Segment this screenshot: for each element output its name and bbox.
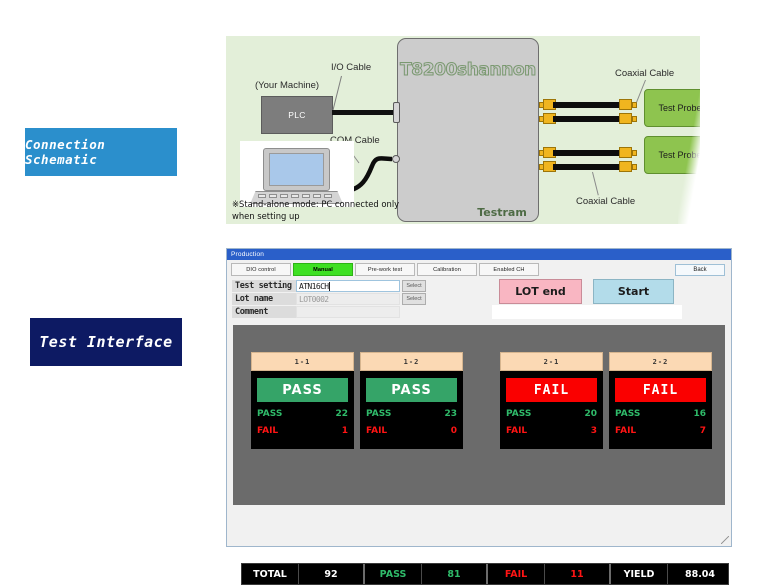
coax-leader-bottom: [592, 172, 599, 196]
coax-cable-label-bottom: Coaxial Cable: [576, 196, 635, 207]
lot-end-button-label: LOT end: [515, 285, 565, 298]
pass-value: 81: [422, 564, 486, 584]
channel-2-2-pass-label: PASS: [615, 409, 640, 419]
test-setting-select-button[interactable]: Select: [402, 280, 426, 292]
lot-name-input[interactable]: LOT0002: [296, 293, 400, 305]
channel-2-1-fail-label: FAIL: [506, 426, 527, 436]
section-label-connection-schematic: Connection Schematic: [25, 128, 177, 176]
channel-1-1-header: 1-1: [251, 352, 354, 371]
channel-2-1-verdict: FAIL: [506, 378, 597, 402]
channel-2-1-fail-count: 3: [591, 426, 597, 436]
channel-card-1-2: 1-2 PASS PASS 23 FAIL 0: [360, 352, 463, 449]
io-cable-leader-line: [332, 76, 342, 113]
fail-group: FAIL 11: [488, 564, 611, 584]
form-row-comment: Comment: [232, 306, 437, 318]
channel-1-2-body: PASS PASS 23 FAIL 0: [360, 371, 463, 449]
form-row-test-setting: Test setting ATN16CH Select: [232, 280, 437, 292]
channel-2-1-body: FAIL PASS 20 FAIL 3: [500, 371, 603, 449]
pass-group: PASS 81: [365, 564, 488, 584]
lot-name-value: LOT0002: [299, 295, 329, 304]
channel-1-1-fail-count: 1: [342, 426, 348, 436]
lot-name-label: Lot name: [232, 293, 296, 305]
io-cable-label: I/O Cable: [331, 62, 371, 73]
lot-end-button[interactable]: LOT end: [499, 279, 582, 304]
test-setting-input[interactable]: ATN16CH: [296, 280, 400, 292]
status-strip: [492, 305, 682, 319]
test-setting-label: Test setting: [232, 280, 296, 292]
channel-1-1-body: PASS PASS 22 FAIL 1: [251, 371, 354, 449]
channel-1-2-fail-count: 0: [451, 426, 457, 436]
io-cable-wire: [332, 110, 398, 115]
channel-2-2-fail-label: FAIL: [615, 426, 636, 436]
channel-1-1-pass-stat: PASS 22: [257, 409, 348, 419]
channel-1-2-fail-label: FAIL: [366, 426, 387, 436]
channel-results-panel: 1-1 PASS PASS 22 FAIL 1 1-2 PASS PASS 23: [233, 325, 725, 505]
device-title-text: T8200shannon: [392, 60, 544, 80]
comment-label: Comment: [232, 306, 296, 318]
channel-1-2-pass-count: 23: [444, 409, 457, 419]
total-value: 92: [299, 564, 363, 584]
channel-2-1-pass-count: 20: [584, 409, 597, 419]
totals-bar: TOTAL 92 PASS 81 FAIL 11 YIELD 88.04: [241, 563, 729, 585]
test-settings-form: Test setting ATN16CH Select Lot name LOT…: [232, 280, 437, 318]
plc-caption-text: (Your Machine): [255, 80, 319, 91]
window-title: Production: [231, 251, 264, 258]
channel-2-2-fail-count: 7: [700, 426, 706, 436]
plc-box: PLC: [261, 96, 333, 134]
start-button-label: Start: [618, 285, 649, 298]
channel-2-2-verdict: FAIL: [615, 378, 706, 402]
tab-strip: DIO control Manual Pre-work test Calibra…: [227, 260, 731, 276]
channel-1-2-pass-label: PASS: [366, 409, 391, 419]
plc-label: PLC: [288, 110, 305, 120]
window-resize-grip[interactable]: [721, 536, 729, 544]
fail-value: 11: [545, 564, 609, 584]
yield-group: YIELD 88.04: [611, 564, 732, 584]
tab-manual[interactable]: Manual: [293, 263, 353, 276]
channel-2-1-fail-stat: FAIL 3: [506, 426, 597, 436]
laptop-screen: [269, 153, 324, 186]
total-key: TOTAL: [242, 564, 299, 584]
window-titlebar: Production: [227, 249, 731, 260]
channel-2-1-pass-label: PASS: [506, 409, 531, 419]
coax-cable-label-top: Coaxial Cable: [615, 68, 674, 79]
channel-2-2-pass-count: 16: [693, 409, 706, 419]
channel-2-2-pass-stat: PASS 16: [615, 409, 706, 419]
channel-1-2-verdict: PASS: [366, 378, 457, 402]
schematic-right-mask: [700, 36, 758, 224]
yield-value: 88.04: [668, 564, 732, 584]
comment-input[interactable]: [296, 306, 400, 318]
back-button[interactable]: Back: [675, 264, 725, 276]
device-footer-text: Testram: [462, 206, 542, 219]
channel-1-1-fail-stat: FAIL 1: [257, 426, 348, 436]
tab-pre-work-test[interactable]: Pre-work test: [355, 263, 415, 276]
lot-name-select-button[interactable]: Select: [402, 293, 426, 305]
form-row-lot-name: Lot name LOT0002 Select: [232, 293, 437, 305]
channel-1-2-header: 1-2: [360, 352, 463, 371]
pass-key: PASS: [365, 564, 422, 584]
channel-2-1-header: 2-1: [500, 352, 603, 371]
channel-1-2-fail-stat: FAIL 0: [366, 426, 457, 436]
start-button[interactable]: Start: [593, 279, 674, 304]
channel-card-2-1: 2-1 FAIL PASS 20 FAIL 3: [500, 352, 603, 449]
channel-2-2-fail-stat: FAIL 7: [615, 426, 706, 436]
tab-dio-control[interactable]: DIO control: [231, 263, 291, 276]
tab-enabled-ch[interactable]: Enabled CH: [479, 263, 539, 276]
back-button-label: Back: [693, 267, 706, 273]
channel-card-1-1: 1-1 PASS PASS 22 FAIL 1: [251, 352, 354, 449]
channel-1-1-fail-label: FAIL: [257, 426, 278, 436]
standalone-mode-note: ※Stand-alone mode: PC connected only whe…: [232, 198, 412, 222]
production-app-window: Production DIO control Manual Pre-work t…: [226, 248, 732, 547]
channel-2-1-pass-stat: PASS 20: [506, 409, 597, 419]
io-port-connector: [393, 102, 400, 123]
channel-2-2-header: 2-2: [609, 352, 712, 371]
connection-schematic-diagram: T8200shannon Testram (Your Machine) PLC …: [226, 36, 758, 224]
com-port-connector: [392, 155, 400, 163]
yield-key: YIELD: [611, 564, 668, 584]
channel-1-1-pass-label: PASS: [257, 409, 282, 419]
channel-card-2-2: 2-2 FAIL PASS 16 FAIL 7: [609, 352, 712, 449]
total-group: TOTAL 92: [242, 564, 365, 584]
channel-1-2-pass-stat: PASS 23: [366, 409, 457, 419]
channel-2-2-body: FAIL PASS 16 FAIL 7: [609, 371, 712, 449]
test-setting-value: ATN16CH: [299, 282, 329, 291]
section-label-test-interface: Test Interface: [30, 318, 182, 366]
channel-1-1-pass-count: 22: [335, 409, 348, 419]
fail-key: FAIL: [488, 564, 545, 584]
channel-1-1-verdict: PASS: [257, 378, 348, 402]
tab-calibration[interactable]: Calibration: [417, 263, 477, 276]
